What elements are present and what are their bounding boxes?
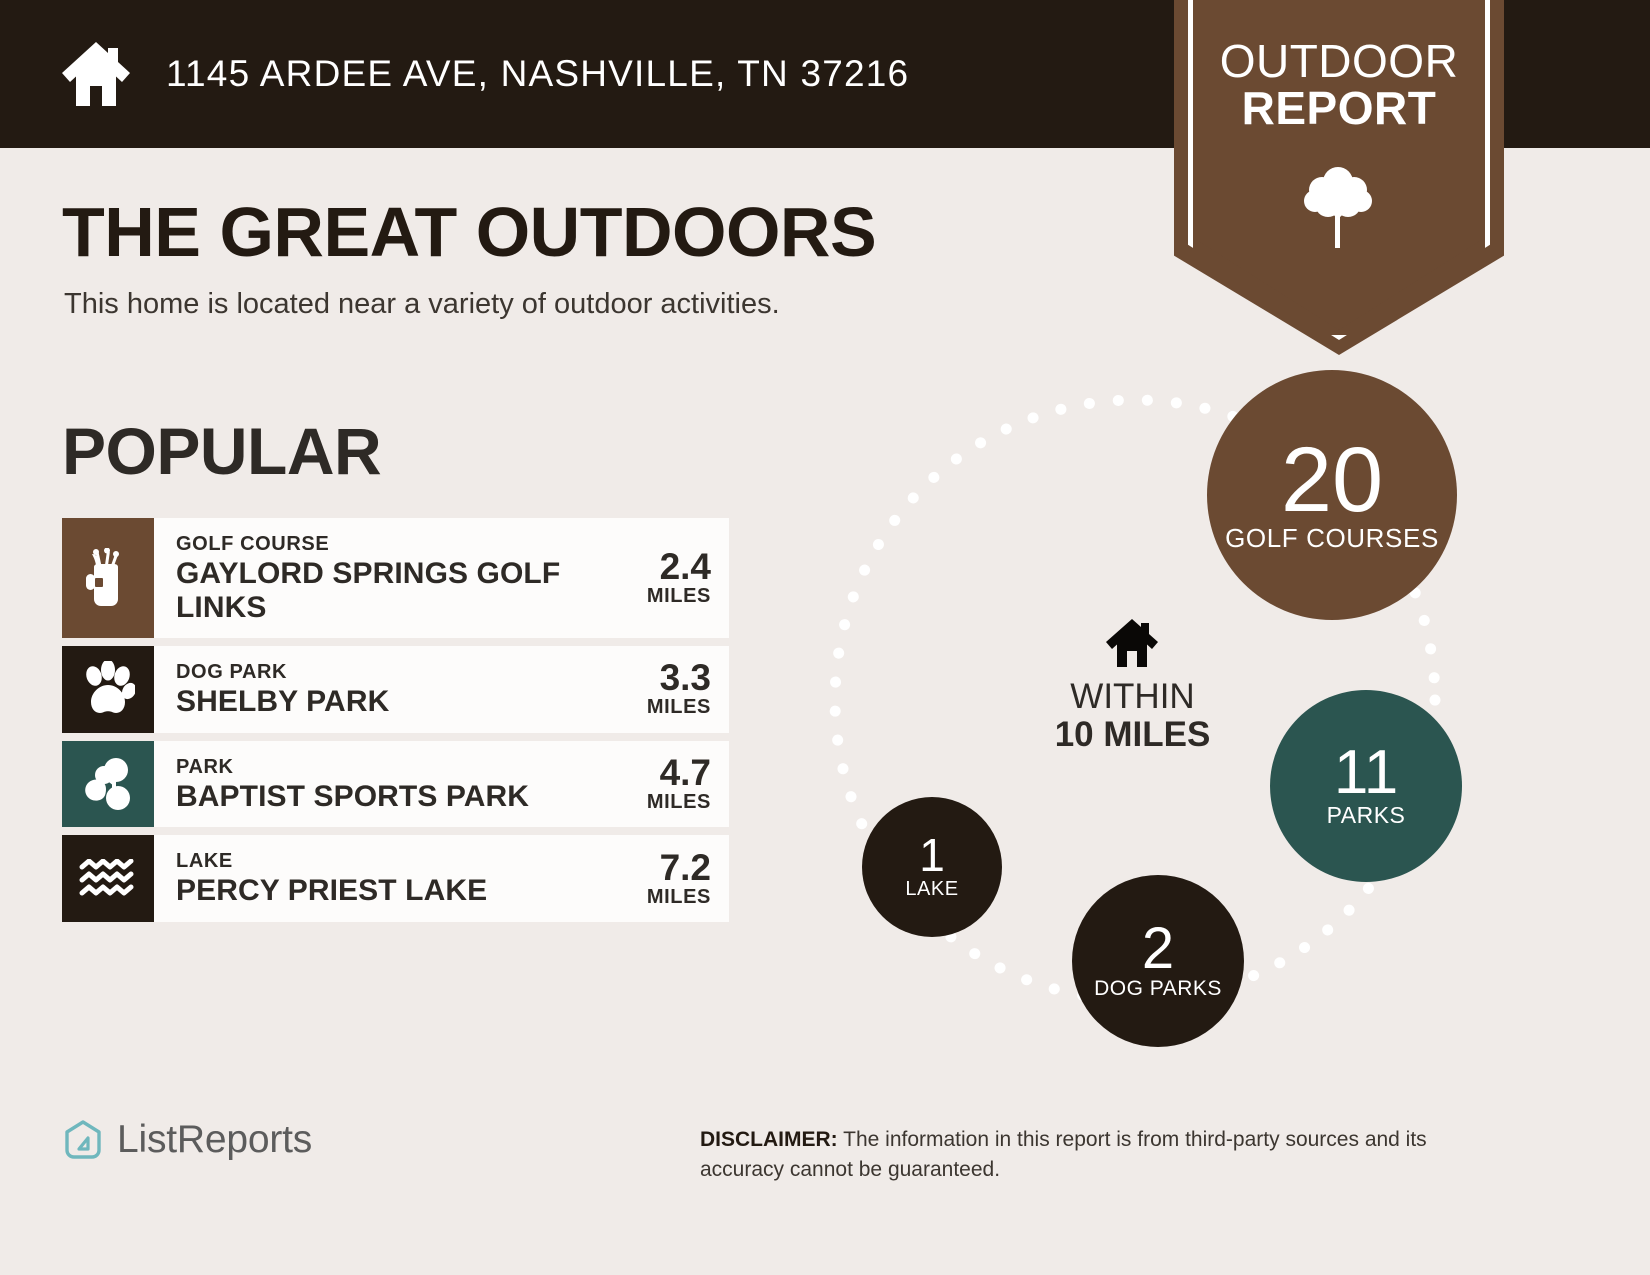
stat-count: 20 <box>1281 438 1383 523</box>
stat-bubble-lake: 1 LAKE <box>862 797 1002 937</box>
stat-count: 1 <box>919 834 945 876</box>
disclaimer: DISCLAIMER: The information in this repo… <box>700 1125 1512 1185</box>
stat-label: DOG PARKS <box>1094 978 1222 1000</box>
badge-line2: REPORT <box>1174 85 1504 132</box>
badge-line1: OUTDOOR <box>1174 38 1504 85</box>
stat-bubble-dog-parks: 2 DOG PARKS <box>1072 875 1244 1047</box>
badge-label: OUTDOOR REPORT <box>1174 38 1504 132</box>
within-line2: 10 MILES <box>995 716 1270 754</box>
stat-bubble-golf-courses: 20 GOLF COURSES <box>1207 370 1457 620</box>
house-icon <box>1104 617 1160 669</box>
tree-icon <box>1300 160 1376 252</box>
outdoor-report-infographic: 1145 ARDEE AVE, NASHVILLE, TN 37216 OUTD… <box>0 0 1650 1275</box>
stat-label: PARKS <box>1327 804 1406 828</box>
listreports-wordmark: ListReports <box>117 1118 312 1162</box>
stat-count: 2 <box>1142 922 1174 975</box>
disclaimer-label: DISCLAIMER: <box>700 1128 838 1151</box>
within-line1: WITHIN <box>995 678 1270 716</box>
stat-bubble-parks: 11 PARKS <box>1270 690 1462 882</box>
within-radius-label: WITHIN 10 MILES <box>995 678 1270 754</box>
stat-label: LAKE <box>905 879 958 900</box>
listreports-logo[interactable]: ListReports <box>62 1118 312 1162</box>
stat-count: 11 <box>1334 744 1398 801</box>
stat-label: GOLF COURSES <box>1225 525 1439 552</box>
listreports-house-icon <box>62 1119 104 1161</box>
